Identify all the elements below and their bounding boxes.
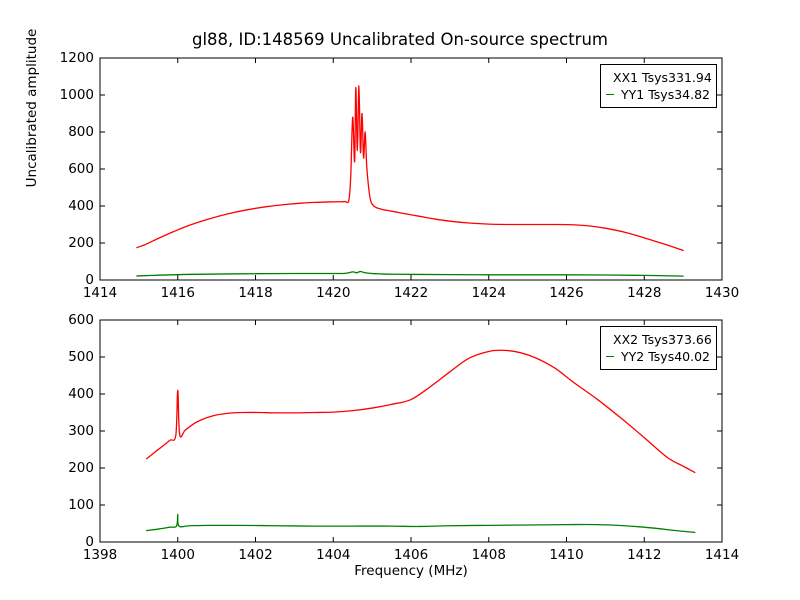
- y-tick-label: 200: [36, 460, 94, 476]
- series-line-yy2: [147, 514, 695, 532]
- legend-label: XX2 Tsys373.66: [613, 332, 712, 347]
- y-tick-label: 300: [36, 423, 94, 439]
- x-tick-label: 1416: [161, 285, 195, 301]
- x-tick-label: 1422: [394, 285, 428, 301]
- legend-swatch-icon: [606, 356, 614, 357]
- legend-entry: YY1 Tsys34.82: [606, 86, 710, 103]
- legend-bottom-panel: XX2 Tsys373.66YY2 Tsys40.02: [600, 326, 717, 370]
- y-tick-label: 600: [36, 161, 94, 177]
- spectrum-figure: gl88, ID:148569 Uncalibrated On-source s…: [0, 0, 800, 600]
- x-tick-label: 1408: [472, 547, 506, 563]
- legend-entry: YY2 Tsys40.02: [606, 348, 710, 365]
- x-tick-label: 1412: [627, 547, 661, 563]
- x-tick-label: 1400: [161, 547, 195, 563]
- x-tick-label: 1414: [705, 547, 739, 563]
- x-tick-label: 1406: [394, 547, 428, 563]
- x-tick-label: 1428: [627, 285, 661, 301]
- y-tick-label: 400: [36, 386, 94, 402]
- legend-label: XX1 Tsys331.94: [613, 70, 712, 85]
- legend-top-panel: XX1 Tsys331.94YY1 Tsys34.82: [600, 64, 717, 108]
- legend-swatch-icon: [606, 94, 614, 95]
- x-tick-label: 1402: [238, 547, 272, 563]
- y-tick-label: 400: [36, 198, 94, 214]
- y-tick-label: 500: [36, 349, 94, 365]
- x-tick-label: 1426: [549, 285, 583, 301]
- x-tick-label: 1424: [472, 285, 506, 301]
- y-tick-label: 0: [36, 272, 94, 288]
- y-tick-label: 600: [36, 312, 94, 328]
- y-tick-label: 1000: [36, 87, 94, 103]
- legend-label: YY1 Tsys34.82: [621, 87, 710, 102]
- x-tick-label: 1430: [705, 285, 739, 301]
- y-tick-label: 200: [36, 235, 94, 251]
- x-tick-label: 1420: [316, 285, 350, 301]
- legend-entry: XX2 Tsys373.66: [606, 331, 710, 348]
- y-tick-label: 800: [36, 124, 94, 140]
- legend-entry: XX1 Tsys331.94: [606, 69, 710, 86]
- y-tick-label: 1200: [36, 50, 94, 66]
- x-tick-label: 1418: [238, 285, 272, 301]
- series-line-yy1: [137, 271, 683, 276]
- y-tick-label: 0: [36, 534, 94, 550]
- series-line-xx1: [137, 86, 683, 251]
- legend-label: YY2 Tsys40.02: [621, 349, 710, 364]
- x-tick-label: 1410: [549, 547, 583, 563]
- y-tick-label: 100: [36, 497, 94, 513]
- x-tick-label: 1404: [316, 547, 350, 563]
